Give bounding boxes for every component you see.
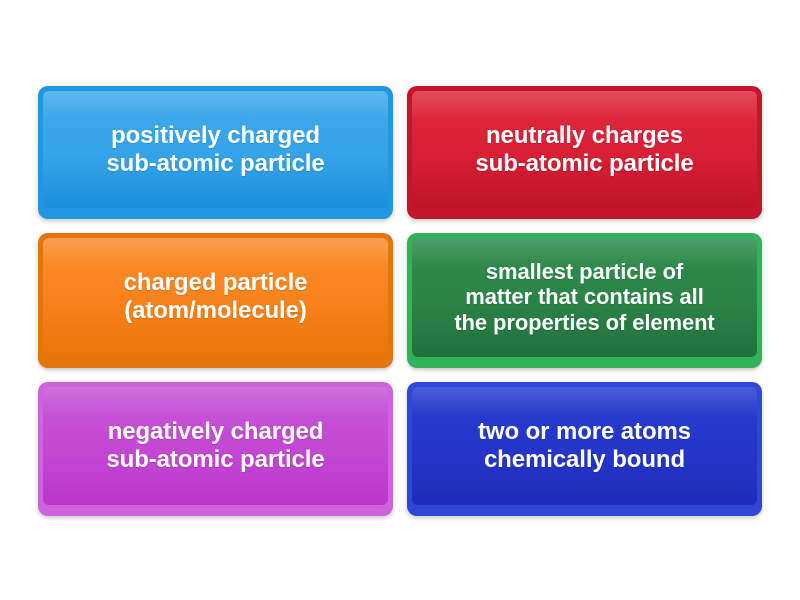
flashcard-tile-red[interactable]: neutrally charges sub-atomic particle	[407, 86, 762, 219]
flashcard-tile-purple[interactable]: negatively charged sub-atomic particle	[38, 382, 393, 517]
tile-label: positively charged sub-atomic particle	[106, 122, 324, 178]
tile-face: negatively charged sub-atomic particle	[43, 387, 388, 506]
tile-face: neutrally charges sub-atomic particle	[412, 91, 757, 208]
tile-label: two or more atoms chemically bound	[478, 418, 691, 474]
tile-face: charged particle (atom/molecule)	[43, 238, 388, 357]
tile-face: positively charged sub-atomic particle	[43, 91, 388, 208]
tile-label: negatively charged sub-atomic particle	[106, 418, 324, 474]
flashcard-tile-orange[interactable]: charged particle (atom/molecule)	[38, 233, 393, 368]
flashcard-tile-blue[interactable]: positively charged sub-atomic particle	[38, 86, 393, 219]
tile-label: neutrally charges sub-atomic particle	[475, 122, 693, 178]
tile-face: two or more atoms chemically bound	[412, 387, 757, 506]
flashcard-tile-indigo[interactable]: two or more atoms chemically bound	[407, 382, 762, 517]
tile-label: charged particle (atom/molecule)	[124, 269, 308, 325]
flashcard-board: positively charged sub-atomic particle n…	[38, 86, 762, 516]
tile-face: smallest particle of matter that contain…	[412, 238, 757, 357]
tile-label: smallest particle of matter that contain…	[454, 259, 714, 336]
flashcard-tile-green[interactable]: smallest particle of matter that contain…	[407, 233, 762, 368]
